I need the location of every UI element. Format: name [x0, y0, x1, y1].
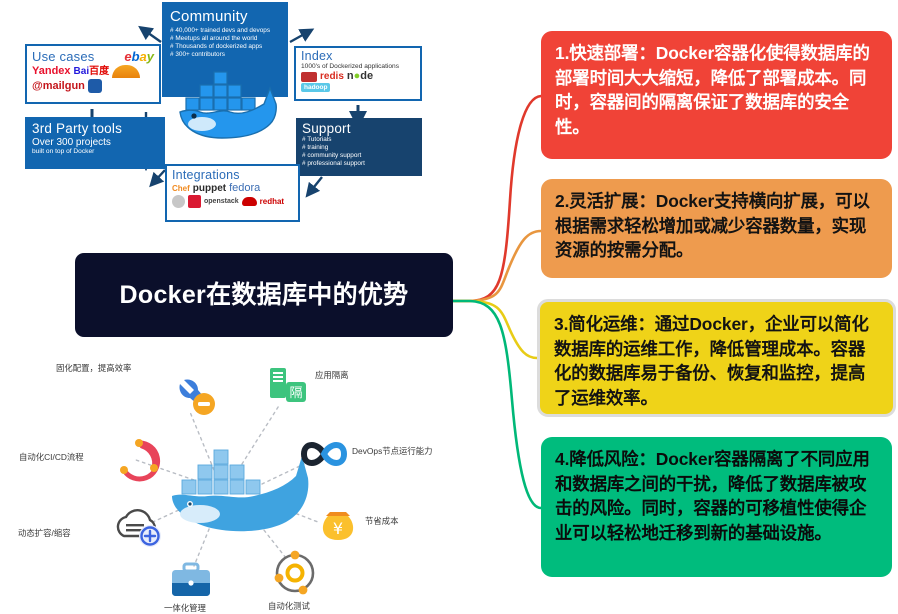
money-bag-icon: ¥ [316, 502, 360, 546]
puppet-logo-icon: puppet [193, 184, 226, 194]
devops-infinity-icon [298, 434, 350, 474]
connector-branch-3 [453, 301, 537, 358]
cpanel-logo-icon [88, 79, 102, 93]
support-heading: Support [302, 121, 416, 136]
support-item: # Tutorials [302, 136, 416, 144]
radial-label-5: 节省成本 [365, 515, 399, 527]
cloud-scale-icon [110, 504, 166, 552]
mysql-logo-icon [301, 72, 317, 82]
community-item: # Thousands of dockerized apps [170, 43, 280, 51]
docker-ecosystem-infographic: Community # 40,000+ trained devs and dev… [22, 2, 427, 224]
fedora-logo-icon: fedora [229, 183, 260, 194]
branch-card-2[interactable]: 2.灵活扩展：Docker支持横向扩展，可以根据需求轻松增加或减少容器数量，实现… [541, 179, 892, 278]
ebay-logo-icon: ebay [124, 50, 154, 63]
use-cases-heading: Use cases [32, 49, 95, 64]
connector-branch-1 [453, 96, 541, 301]
automated-test-atom-icon [270, 548, 320, 598]
radial-label-1: 应用隔离 [315, 369, 349, 381]
index-subheading: 1000's of Dockerized applications [301, 63, 415, 70]
index-heading: Index [301, 50, 415, 63]
support-item: # professional support [302, 160, 416, 168]
radial-label-4: 动态扩容/缩容 [18, 527, 71, 539]
cambridge-logo-icon [112, 65, 140, 78]
integrations-heading: Integrations [172, 168, 293, 182]
third-party-line-2: built on top of Docker [32, 148, 158, 155]
branch-card-1-text: 1.快速部署：Docker容器化使得数据库的部署时间大大缩短，降低了部署成本。同… [555, 41, 879, 139]
branch-card-2-text: 2.灵活扩展：Docker支持横向扩展，可以根据需求轻松增加或减少容器数量，实现… [555, 189, 879, 263]
third-party-line-1: Over 300 projects [32, 137, 158, 148]
openstack-label: openstack [204, 198, 239, 205]
redhat-label: redhat [260, 198, 284, 206]
app-isolation-icon: 隔 [266, 364, 310, 408]
support-item: # training [302, 144, 416, 152]
ecosystem-box-use-cases[interactable]: Use cases ebay Yandex Bai百度 @mailgun [25, 44, 161, 104]
radial-label-3: DevOps节点运行能力 [352, 445, 433, 457]
community-item: # Meetups all around the world [170, 35, 280, 43]
community-item: # 40,000+ trained devs and devops [170, 27, 280, 35]
docker-benefits-radial-illustration: 隔 ¥ [18, 352, 488, 610]
docker-whale-logo-icon [172, 54, 282, 162]
redhat-logo-icon [242, 197, 257, 206]
ecosystem-box-integrations[interactable]: Integrations Chef puppet fedora openstac… [165, 164, 300, 222]
radial-label-7: 自动化测试 [268, 600, 310, 612]
branch-card-4[interactable]: 4.降低风险：Docker容器隔离了不同应用和数据库之间的干扰，降低了数据库被攻… [541, 437, 892, 577]
node-logo-icon: n●de [347, 71, 373, 82]
branch-card-3-text: 3.简化运维：通过Docker，企业可以简化数据库的运维工作，降低管理成本。容器… [554, 312, 880, 410]
mailgun-logo-icon: @mailgun [32, 81, 85, 92]
ecosystem-box-support[interactable]: Support # Tutorials # training # communi… [296, 118, 422, 176]
branch-card-1[interactable]: 1.快速部署：Docker容器化使得数据库的部署时间大大缩短，降低了部署成本。同… [541, 31, 892, 159]
radial-label-6: 一体化管理 [164, 602, 206, 614]
community-heading: Community [170, 8, 280, 25]
docker-whale-illustration-icon [168, 442, 318, 542]
openstack-logo-icon [188, 195, 201, 208]
wrench-icon [174, 374, 218, 418]
branch-card-4-text: 4.降低风险：Docker容器隔离了不同应用和数据库之间的干扰，降低了数据库被攻… [555, 447, 879, 545]
third-party-heading: 3rd Party tools [32, 121, 158, 136]
redis-logo-icon: redis [320, 72, 344, 82]
jenkins-logo-icon [172, 195, 185, 208]
ecosystem-box-index[interactable]: Index 1000's of Dockerized applications … [294, 46, 422, 101]
connector-branch-2 [453, 231, 541, 301]
radial-label-2: 自动化CI/CD流程 [19, 451, 84, 463]
briefcase-icon [168, 560, 214, 604]
hadoop-logo-icon: hadoop [301, 83, 330, 92]
radial-label-0: 固化配置，提高效率 [56, 362, 131, 374]
support-item: # community support [302, 152, 416, 160]
central-topic-node[interactable]: Docker在数据库中的优势 [75, 253, 453, 337]
svg-text:¥: ¥ [333, 519, 343, 538]
baidu-logo-icon: Bai百度 [74, 67, 110, 77]
central-topic-label: Docker在数据库中的优势 [120, 280, 409, 311]
mindmap-canvas: Docker在数据库中的优势 1.快速部署：Docker容器化使得数据库的部署时… [0, 0, 898, 612]
branch-card-3[interactable]: 3.简化运维：通过Docker，企业可以简化数据库的运维工作，降低管理成本。容器… [537, 299, 896, 417]
svg-text:隔: 隔 [289, 386, 302, 401]
yandex-logo-icon: Yandex [32, 66, 71, 77]
cicd-cycle-icon [116, 438, 162, 484]
chef-logo-icon: Chef [172, 185, 190, 193]
ecosystem-box-third-party-tools[interactable]: 3rd Party tools Over 300 projects built … [25, 117, 165, 169]
